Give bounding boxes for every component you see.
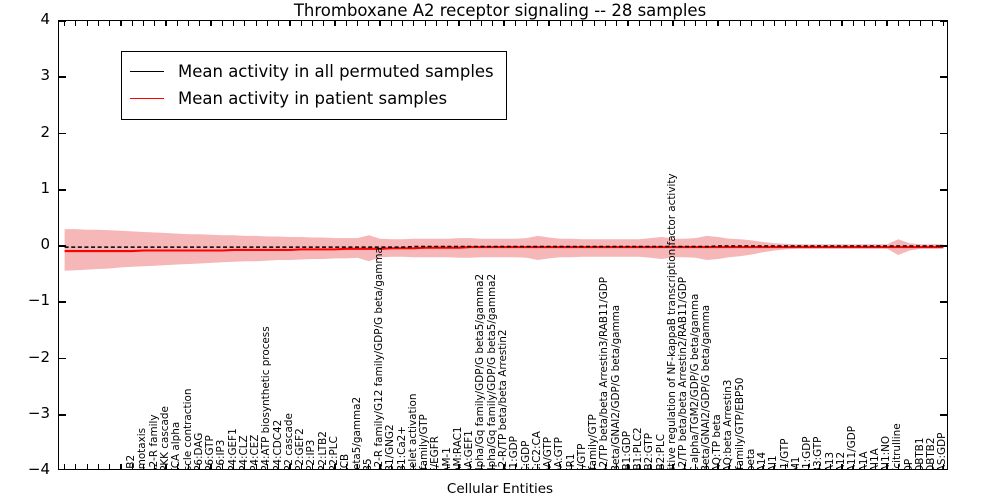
- x-tick-mark: [560, 464, 561, 469]
- y-tick-mark: [940, 189, 947, 191]
- x-tick-mark: [447, 21, 448, 26]
- legend-swatch-patient: [130, 98, 164, 99]
- x-tick-mark: [177, 464, 178, 469]
- x-tick-mark: [920, 21, 921, 26]
- x-tick-mark: [244, 21, 245, 26]
- x-tick-mark: [932, 464, 933, 469]
- x-tick-mark: [87, 21, 88, 26]
- x-tick-mark: [796, 464, 797, 469]
- x-tick-mark: [672, 464, 673, 469]
- y-tick-label: 2: [0, 123, 50, 141]
- x-tick-mark: [740, 21, 741, 26]
- chart-title: Thromboxane A2 receptor signaling -- 28 …: [0, 1, 1000, 20]
- x-tick-mark: [301, 21, 302, 26]
- x-tick-mark: [379, 21, 380, 26]
- x-tick-mark: [841, 464, 842, 469]
- legend-label-patient: Mean activity in patient samples: [178, 89, 447, 108]
- x-tick-mark: [447, 464, 448, 469]
- x-tick-mark: [425, 21, 426, 26]
- x-tick-mark: [920, 464, 921, 469]
- x-tick-mark: [210, 464, 211, 469]
- x-tick-mark: [639, 21, 640, 26]
- x-tick-mark: [425, 464, 426, 469]
- chart-canvas: Thromboxane A2 receptor signaling -- 28 …: [0, 0, 1000, 500]
- x-tick-mark: [684, 21, 685, 26]
- x-tick-mark: [312, 21, 313, 26]
- x-tick-mark: [684, 464, 685, 469]
- x-tick-mark: [109, 464, 110, 469]
- x-tick-mark: [582, 21, 583, 26]
- x-tick-mark: [526, 464, 527, 469]
- x-tick-mark: [222, 464, 223, 469]
- x-tick-mark: [334, 464, 335, 469]
- x-tick-mark: [75, 21, 76, 26]
- x-tick-mark: [909, 464, 910, 469]
- x-tick-mark: [222, 21, 223, 26]
- x-tick-mark: [661, 464, 662, 469]
- x-tick-mark: [98, 21, 99, 26]
- y-tick-label: 4: [0, 10, 50, 28]
- legend-label-permuted: Mean activity in all permuted samples: [178, 62, 494, 81]
- x-tick-mark: [706, 21, 707, 26]
- x-tick-mark: [120, 21, 121, 26]
- x-tick-mark: [695, 464, 696, 469]
- x-tick-mark: [87, 464, 88, 469]
- y-tick-mark: [59, 301, 66, 303]
- x-tick-mark: [289, 464, 290, 469]
- x-tick-mark: [909, 21, 910, 26]
- x-tick-mark: [188, 464, 189, 469]
- x-tick-mark: [943, 21, 944, 26]
- y-tick-label: 0: [0, 235, 50, 253]
- x-tick-mark: [740, 464, 741, 469]
- x-tick-mark: [932, 21, 933, 26]
- x-tick-mark: [379, 464, 380, 469]
- x-tick-mark: [796, 21, 797, 26]
- x-tick-mark: [808, 21, 809, 26]
- x-tick-mark: [492, 464, 493, 469]
- y-tick-mark: [59, 414, 66, 416]
- plot-area: PLCB2chemotaxisTXA2-R familyMAPKK cascad…: [58, 20, 948, 470]
- x-tick-mark: [233, 464, 234, 469]
- x-tick-mark: [717, 464, 718, 469]
- x-tick-mark: [571, 21, 572, 26]
- x-tick-mark: [323, 21, 324, 26]
- x-tick-mark: [515, 21, 516, 26]
- x-tick-mark: [548, 464, 549, 469]
- x-tick-mark: [943, 464, 944, 469]
- x-tick-mark: [346, 21, 347, 26]
- x-tick-mark: [672, 21, 673, 26]
- x-tick-mark: [458, 21, 459, 26]
- x-tick-mark: [165, 21, 166, 26]
- x-tick-mark: [819, 21, 820, 26]
- x-tick-mark: [503, 464, 504, 469]
- x-tick-mark: [605, 464, 606, 469]
- x-tick-mark: [774, 21, 775, 26]
- y-tick-mark: [940, 133, 947, 135]
- x-tick-mark: [503, 21, 504, 26]
- x-tick-mark: [143, 21, 144, 26]
- x-tick-mark: [886, 464, 887, 469]
- x-tick-mark: [548, 21, 549, 26]
- x-tick-mark: [560, 21, 561, 26]
- x-tick-mark: [830, 21, 831, 26]
- x-tick-mark: [120, 464, 121, 469]
- y-tick-mark: [59, 133, 66, 135]
- x-tick-mark: [244, 464, 245, 469]
- x-tick-mark: [616, 21, 617, 26]
- legend-item-patient: Mean activity in patient samples: [130, 85, 494, 112]
- x-tick-mark: [841, 21, 842, 26]
- x-tick-mark: [98, 464, 99, 469]
- x-tick-mark: [627, 21, 628, 26]
- x-tick-mark: [436, 464, 437, 469]
- x-tick-mark: [458, 464, 459, 469]
- y-tick-mark: [59, 358, 66, 360]
- x-tick-mark: [109, 21, 110, 26]
- x-tick-mark: [368, 21, 369, 26]
- x-tick-mark: [875, 21, 876, 26]
- x-tick-mark: [256, 464, 257, 469]
- x-tick-mark: [594, 21, 595, 26]
- legend-swatch-permuted: [130, 71, 164, 72]
- y-tick-mark: [940, 414, 947, 416]
- x-tick-mark: [763, 21, 764, 26]
- x-tick-mark: [470, 21, 471, 26]
- x-tick-mark: [594, 464, 595, 469]
- x-tick-mark: [165, 464, 166, 469]
- x-tick-mark: [402, 464, 403, 469]
- y-tick-mark: [940, 301, 947, 303]
- x-tick-mark: [481, 21, 482, 26]
- x-tick-mark: [334, 21, 335, 26]
- x-axis-title: Cellular Entities: [0, 481, 1000, 497]
- chart-legend: Mean activity in all permuted samples Me…: [121, 51, 507, 120]
- x-tick-mark: [864, 464, 865, 469]
- x-tick-mark: [413, 21, 414, 26]
- y-tick-mark: [59, 189, 66, 191]
- x-tick-mark: [199, 464, 200, 469]
- x-tick-mark: [875, 464, 876, 469]
- x-tick-mark: [537, 464, 538, 469]
- x-tick-mark: [808, 464, 809, 469]
- x-tick-mark: [830, 464, 831, 469]
- y-tick-mark: [940, 358, 947, 360]
- x-tick-mark: [819, 464, 820, 469]
- x-tick-mark: [763, 464, 764, 469]
- x-tick-mark: [785, 464, 786, 469]
- x-tick-mark: [64, 464, 65, 469]
- x-tick-mark: [357, 464, 358, 469]
- x-tick-mark: [278, 464, 279, 469]
- x-tick-mark: [278, 21, 279, 26]
- x-tick-mark: [785, 21, 786, 26]
- x-tick-mark: [154, 464, 155, 469]
- x-tick-mark: [717, 21, 718, 26]
- x-tick-mark: [132, 464, 133, 469]
- x-tick-mark: [898, 21, 899, 26]
- x-tick-mark: [864, 21, 865, 26]
- x-tick-mark: [188, 21, 189, 26]
- x-tick-mark: [650, 21, 651, 26]
- y-tick-mark: [59, 76, 66, 78]
- x-tick-mark: [605, 21, 606, 26]
- x-tick-mark: [346, 464, 347, 469]
- x-tick-mark: [391, 464, 392, 469]
- x-tick-mark: [267, 21, 268, 26]
- y-tick-mark: [59, 245, 66, 247]
- x-tick-mark: [729, 21, 730, 26]
- x-tick-mark: [267, 464, 268, 469]
- x-tick-mark: [706, 464, 707, 469]
- x-tick-mark: [751, 464, 752, 469]
- x-tick-mark: [413, 464, 414, 469]
- x-tick-mark: [154, 21, 155, 26]
- x-tick-mark: [210, 21, 211, 26]
- x-tick-mark: [357, 21, 358, 26]
- x-tick-mark: [526, 21, 527, 26]
- y-tick-label: 3: [0, 66, 50, 84]
- x-tick-mark: [515, 464, 516, 469]
- x-tick-mark: [199, 21, 200, 26]
- x-tick-mark: [695, 21, 696, 26]
- x-tick-mark: [853, 21, 854, 26]
- x-tick-mark: [436, 21, 437, 26]
- y-tick-label: −3: [0, 404, 50, 422]
- x-tick-mark: [639, 464, 640, 469]
- x-tick-mark: [233, 21, 234, 26]
- x-tick-mark: [368, 464, 369, 469]
- x-tick-mark: [312, 464, 313, 469]
- x-tick-mark: [729, 464, 730, 469]
- y-tick-label: −1: [0, 291, 50, 309]
- x-tick-mark: [616, 464, 617, 469]
- x-tick-mark: [886, 21, 887, 26]
- x-tick-mark: [177, 21, 178, 26]
- x-tick-mark: [143, 464, 144, 469]
- x-tick-mark: [391, 21, 392, 26]
- x-tick-mark: [301, 464, 302, 469]
- x-tick-mark: [650, 464, 651, 469]
- x-tick-mark: [571, 464, 572, 469]
- x-tick-mark: [751, 21, 752, 26]
- x-tick-mark: [537, 21, 538, 26]
- y-tick-mark: [940, 76, 947, 78]
- y-tick-label: −4: [0, 460, 50, 478]
- x-tick-mark: [898, 464, 899, 469]
- x-tick-mark: [75, 464, 76, 469]
- legend-item-permuted: Mean activity in all permuted samples: [130, 58, 494, 85]
- x-tick-mark: [289, 21, 290, 26]
- x-tick-mark: [492, 21, 493, 26]
- y-tick-label: 1: [0, 179, 50, 197]
- x-tick-mark: [627, 464, 628, 469]
- x-tick-mark: [853, 464, 854, 469]
- x-tick-mark: [256, 21, 257, 26]
- y-tick-mark: [940, 245, 947, 247]
- x-tick-mark: [470, 464, 471, 469]
- x-tick-mark: [132, 21, 133, 26]
- x-tick-mark: [661, 21, 662, 26]
- y-tick-label: −2: [0, 348, 50, 366]
- x-tick-mark: [774, 464, 775, 469]
- x-tick-mark: [64, 21, 65, 26]
- x-tick-mark: [323, 464, 324, 469]
- x-tick-mark: [582, 464, 583, 469]
- x-tick-mark: [481, 464, 482, 469]
- x-tick-mark: [402, 21, 403, 26]
